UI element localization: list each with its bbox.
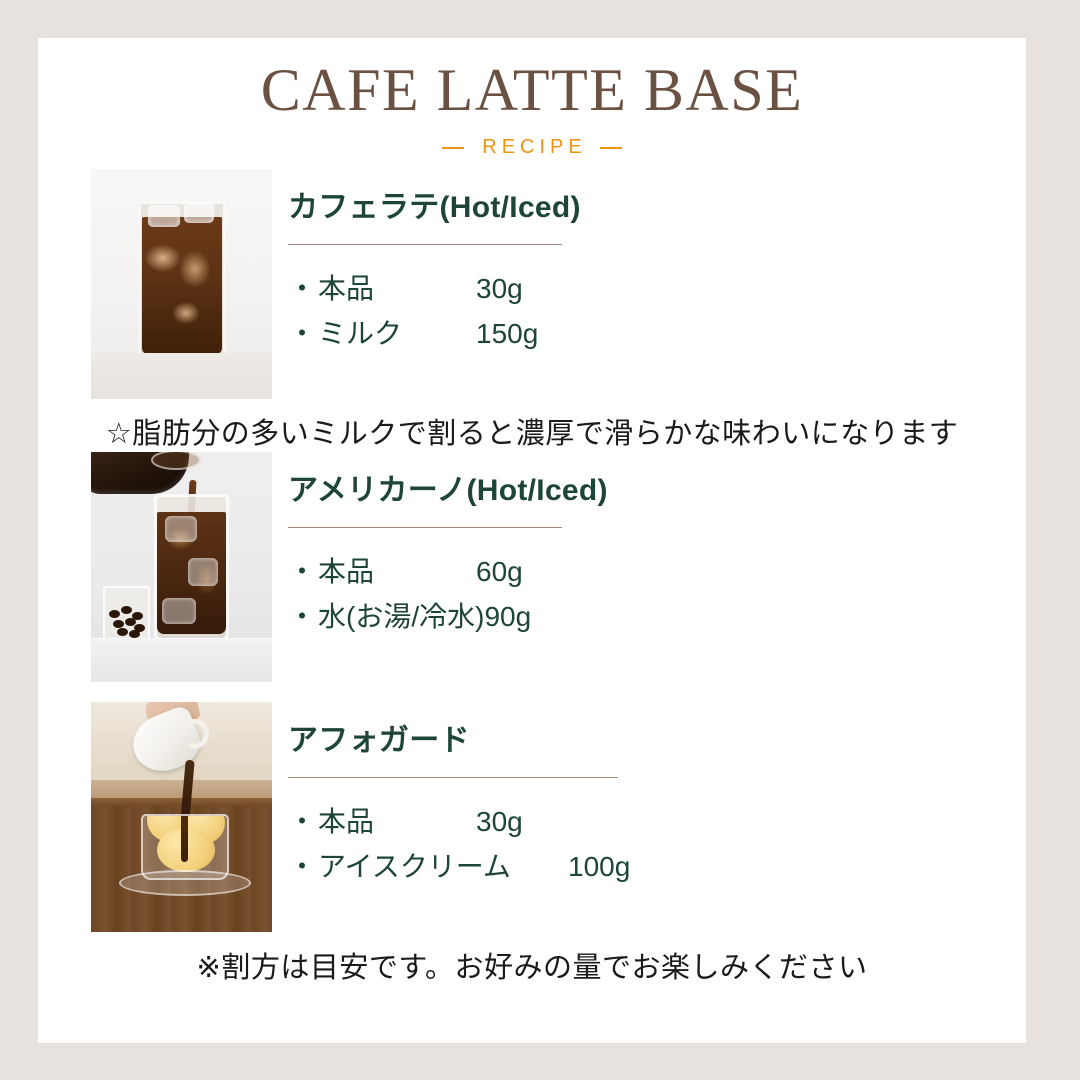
recipe-photo-iced-latte: [91, 169, 272, 399]
recipe-body-3: アフォガード ・ 本品 30g ・ アイスクリーム 100g: [288, 702, 1026, 890]
ingredient-row: ・ 水(お湯/冷水) 90g: [288, 595, 1026, 640]
glass-icon: [154, 494, 229, 642]
ingredient-amount: 60g: [476, 550, 523, 595]
carafe-rim: [151, 452, 201, 470]
bullet-icon: ・: [288, 312, 316, 357]
ice-cube-icon: [188, 558, 218, 586]
ingredient-row: ・ 本品 30g: [288, 267, 1026, 312]
glass-icon: [138, 201, 226, 366]
coffee-fill: [142, 217, 222, 354]
recipe-title-3: アフォガード: [288, 724, 1026, 757]
bullet-icon: ・: [288, 800, 316, 845]
bullet-icon: ・: [288, 595, 316, 640]
subtitle-label: RECIPE: [477, 136, 586, 159]
ingredient-list-3: ・ 本品 30g ・ アイスクリーム 100g: [288, 800, 1026, 890]
subtitle-row: RECIPE: [38, 136, 1026, 159]
ingredient-amount: 150g: [476, 312, 538, 357]
recipe-item-3: アフォガード ・ 本品 30g ・ アイスクリーム 100g: [38, 702, 1026, 932]
ice-cube-icon: [162, 598, 196, 624]
recipe-body-1: カフェラテ(Hot/Iced) ・ 本品 30g ・ ミルク 150g: [288, 169, 1026, 357]
ingredient-amount: 30g: [476, 800, 523, 845]
divider: [288, 244, 562, 245]
ingredient-list-2: ・ 本品 60g ・ 水(お湯/冷水) 90g: [288, 550, 1026, 640]
ingredient-name: 本品: [318, 550, 476, 595]
ingredient-row: ・ 本品 60g: [288, 550, 1026, 595]
recipe-item-1: カフェラテ(Hot/Iced) ・ 本品 30g ・ ミルク 150g: [38, 169, 1026, 399]
tip-note: ☆脂肪分の多いミルクで割ると濃厚で滑らかな味わいになります: [38, 417, 1026, 452]
ingredient-name: 本品: [318, 800, 476, 845]
header: CAFE LATTE BASE RECIPE: [38, 38, 1026, 159]
ingredient-amount: 90g: [484, 595, 531, 640]
bullet-icon: ・: [288, 845, 316, 890]
saucer-icon: [119, 870, 251, 896]
page-title: CAFE LATTE BASE: [38, 59, 1026, 122]
ice-cube-icon: [148, 205, 180, 227]
ingredient-name: アイスクリーム: [318, 845, 568, 890]
ingredient-row: ・ ミルク 150g: [288, 312, 1026, 357]
coffee-bean-jar-icon: [103, 586, 150, 644]
recipe-card: CAFE LATTE BASE RECIPE カフェラテ(Hot/Iced) ・: [38, 38, 1026, 1043]
ingredient-name: 水(お湯/冷水): [318, 595, 484, 640]
footer-note: ※割方は目安です。お好みの量でお楽しみください: [38, 951, 1026, 986]
recipe-photo-affogato: [91, 702, 272, 932]
coffee-drizzle: [181, 814, 188, 862]
dash-left-icon: [442, 147, 464, 149]
ice-cube-icon: [165, 516, 197, 542]
bullet-icon: ・: [288, 550, 316, 595]
dash-right-icon: [600, 147, 622, 149]
ingredient-name: 本品: [318, 267, 476, 312]
ingredient-row: ・ 本品 30g: [288, 800, 1026, 845]
ingredient-list-1: ・ 本品 30g ・ ミルク 150g: [288, 267, 1026, 357]
ice-cube-icon: [184, 203, 214, 223]
recipe-title-1: カフェラテ(Hot/Iced): [288, 191, 1026, 224]
bullet-icon: ・: [288, 267, 316, 312]
divider: [288, 777, 618, 778]
recipe-photo-americano: [91, 452, 272, 682]
table-surface: [91, 353, 272, 399]
ingredient-amount: 100g: [568, 845, 630, 890]
ingredient-row: ・ アイスクリーム 100g: [288, 845, 1026, 890]
ingredient-name: ミルク: [318, 312, 476, 357]
recipe-item-2: アメリカーノ(Hot/Iced) ・ 本品 60g ・ 水(お湯/冷水) 90g: [38, 452, 1026, 682]
recipe-title-2: アメリカーノ(Hot/Iced): [288, 474, 1026, 507]
divider: [288, 527, 562, 528]
ingredient-amount: 30g: [476, 267, 523, 312]
counter-surface: [91, 638, 272, 682]
recipe-body-2: アメリカーノ(Hot/Iced) ・ 本品 60g ・ 水(お湯/冷水) 90g: [288, 452, 1026, 640]
